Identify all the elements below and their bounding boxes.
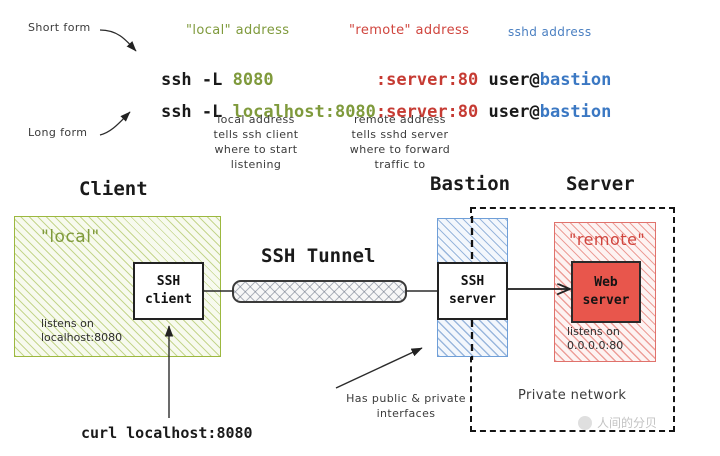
remote-address-note: remote address tells sshd server where t… (336, 113, 464, 172)
client-zone-note: listens on localhost:8080 (41, 317, 122, 346)
web-server-node[interactable]: Web server (571, 261, 641, 323)
client-zone-title: "local" (41, 227, 100, 247)
local-address-label: "local" address (186, 22, 289, 40)
ssh-server-label-2: server (449, 291, 496, 309)
watermark-text: 人间的分贝 (597, 414, 657, 431)
curl-command: curl localhost:8080 (81, 424, 253, 442)
server-zone-note: listens on 0.0.0.0:80 (567, 325, 623, 354)
cmd-long-user: user@ (489, 102, 540, 122)
bastion-note-line-1: Has public & private (326, 392, 486, 407)
local-address-note: local address tells ssh client where to … (196, 113, 316, 172)
local-note-line-4: listening (196, 158, 316, 173)
cmd-long-host: bastion (540, 102, 612, 122)
server-note-line-1: listens on (567, 325, 623, 339)
local-note-line-1: local address (196, 113, 316, 128)
client-note-line-1: listens on (41, 317, 122, 331)
diagram-canvas: Short form Long form "local" address "re… (0, 0, 720, 456)
ssh-server-node[interactable]: SSH server (437, 262, 508, 320)
remote-note-line-2: tells sshd server (336, 128, 464, 143)
short-form-label: Short form (28, 21, 91, 36)
ssh-client-label-2: client (145, 291, 192, 309)
bastion-note-line-2: interfaces (326, 407, 486, 422)
ssh-tunnel-label: SSH Tunnel (261, 245, 375, 267)
heading-bastion: Bastion (430, 173, 510, 195)
web-server-label-2: server (583, 292, 630, 310)
web-server-label-1: Web (594, 274, 617, 292)
sshd-address-label: sshd address (508, 24, 592, 40)
long-form-label: Long form (28, 126, 87, 141)
client-note-line-2: localhost:8080 (41, 331, 122, 345)
wechat-watermark: 人间的分贝 (578, 414, 657, 431)
server-zone-title: "remote" (569, 230, 645, 249)
heading-server: Server (566, 173, 635, 195)
heading-client: Client (79, 178, 148, 200)
remote-note-line-4: traffic to (336, 158, 464, 173)
short-form-arrow (100, 30, 136, 51)
ssh-server-label-1: SSH (461, 273, 484, 291)
ssh-tunnel-pipe (232, 280, 407, 303)
remote-address-label: "remote" address (349, 22, 469, 40)
bastion-note-arrow (336, 348, 422, 388)
bastion-interfaces-note: Has public & private interfaces (326, 392, 486, 422)
local-note-line-3: where to start (196, 143, 316, 158)
wechat-logo-icon (578, 416, 592, 430)
cmd-long-space (478, 102, 488, 122)
server-note-line-2: 0.0.0.0:80 (567, 339, 623, 353)
remote-note-line-3: where to forward (336, 143, 464, 158)
private-network-label: Private network (518, 387, 626, 405)
ssh-client-node[interactable]: SSH client (133, 262, 204, 320)
remote-note-line-1: remote address (336, 113, 464, 128)
local-note-line-2: tells ssh client (196, 128, 316, 143)
ssh-client-label-1: SSH (157, 273, 180, 291)
